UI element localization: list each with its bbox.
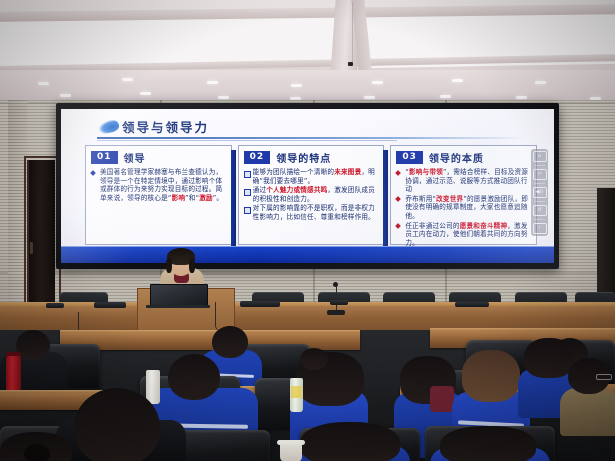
microphone-stand xyxy=(336,286,337,312)
title-divider-secondary xyxy=(97,140,397,141)
slide-footer-bar xyxy=(61,247,554,263)
slide-title: 领导与领导力 xyxy=(122,117,209,136)
hair-bow xyxy=(300,348,328,370)
bullet-item: “影响与带领”，需结合榜样、目标及资源协调，通过示范、说服等方式推动团队行动 xyxy=(396,168,532,194)
osd-separator xyxy=(534,219,545,220)
expand-icon[interactable]: › xyxy=(533,223,547,234)
bullet-item: 通过个人魅力或情感共鸣，激发团队成员的积极性和创造力。 xyxy=(244,186,380,203)
downlight xyxy=(535,81,546,84)
audience-area: NNA xyxy=(0,330,615,461)
person-head xyxy=(74,388,160,461)
slide-title-group: 领导与领导力 xyxy=(97,116,209,136)
column-bullets-03: “影响与带领”，需结合榜样、目标及资源协调，通过示范、说服等方式推动团队行动 乔… xyxy=(396,168,532,247)
person-head xyxy=(168,354,220,400)
refresh-icon[interactable]: ↺ xyxy=(533,205,547,216)
column-header-01: 01 领导 xyxy=(91,150,227,165)
paper-cup xyxy=(280,444,302,461)
ceiling-panel-left xyxy=(0,14,340,67)
column-header-03: 03 领导的本质 xyxy=(396,150,532,165)
slide-column-01: 01 领导 美国著名管理学家赫塞与布兰查德认为，领导是一个在特定情境中，通过影响… xyxy=(85,145,232,245)
presenter-hair-side xyxy=(166,258,172,273)
column-heading: 领导的特点 xyxy=(276,150,331,165)
desk-equipment xyxy=(46,303,64,308)
column-heading: 领导 xyxy=(124,150,146,165)
person-torso xyxy=(560,388,615,436)
ceiling xyxy=(0,0,615,104)
bullet-item: 乔布斯用“改变世界”的愿景激励团队，即使没有明确的规章制度，大家也愿意追随他。 xyxy=(396,195,532,221)
wall-display[interactable]: 领导与领导力 01 领导 美国著名管理学家赫塞与布兰查德认为，领导是一个在特定情… xyxy=(56,103,559,269)
home-icon[interactable]: ⌂ xyxy=(533,151,547,162)
bullet-item: 任正非通过公司的愿景和奋斗精神，激发员工内在动力，使他们朝着共同的方向努力。 xyxy=(396,222,532,248)
presenter-hair-side xyxy=(189,258,195,273)
desk-equipment xyxy=(94,302,126,308)
osd-toolbar[interactable]: ⌂ ⇦ ◀)) ↺ › xyxy=(531,149,548,236)
glasses-icon xyxy=(596,374,612,380)
column-shadow xyxy=(231,150,236,248)
downlight xyxy=(140,92,151,95)
osd-separator xyxy=(534,183,545,184)
person-hair xyxy=(462,350,520,402)
column-bullets-01: 美国著名管理学家赫塞与布兰查德认为，领导是一个在特定情境中，通过影响个体或群体的… xyxy=(91,168,227,202)
person-head xyxy=(16,330,50,360)
projector-mount-rod xyxy=(352,2,353,62)
wall-band xyxy=(0,272,615,274)
swoosh-decoration-icon xyxy=(96,117,120,134)
downlight xyxy=(218,96,229,99)
volume-icon[interactable]: ◀)) xyxy=(533,187,547,198)
downlight xyxy=(291,84,302,87)
slide-columns: 01 领导 美国著名管理学家赫塞与布兰查德认为，领导是一个在特定情境中，通过影响… xyxy=(85,145,537,245)
downlight xyxy=(516,96,527,99)
person-scarf xyxy=(430,386,454,412)
person-hair xyxy=(300,422,400,461)
red-thermos xyxy=(6,356,21,394)
downlight xyxy=(372,81,383,84)
desk-equipment xyxy=(455,302,489,307)
bullet-item: 对下属的影响靠的不是职权，而是非权力性影响力，比如信任、尊重和榜样作用。 xyxy=(244,204,380,221)
downlight xyxy=(207,81,218,84)
downlight xyxy=(440,95,451,98)
downlight xyxy=(452,79,463,82)
column-number-badge: 02 xyxy=(244,151,271,164)
column-shadow xyxy=(383,150,388,248)
column-header-02: 02 领导的特点 xyxy=(244,150,380,165)
back-icon[interactable]: ⇦ xyxy=(533,169,547,180)
osd-separator xyxy=(534,165,545,166)
slide-column-03: 03 领导的本质 “影响与带领”，需结合榜样、目标及资源协调，通过示范、说服等方… xyxy=(390,145,537,245)
desk-equipment xyxy=(240,301,280,307)
microphone-base xyxy=(327,310,345,315)
bottle-label xyxy=(291,386,302,398)
microphone-icon xyxy=(333,282,338,287)
downlight xyxy=(38,82,49,85)
slide-column-02: 02 领导的特点 能够为团队描绘一个清晰的未来图景，明确“我们要去哪里”。 通过… xyxy=(238,145,385,245)
presentation-slide: 领导与领导力 01 领导 美国著名管理学家赫塞与布兰查德认为，领导是一个在特定情… xyxy=(61,109,554,263)
downlight xyxy=(60,94,71,97)
osd-separator xyxy=(534,201,545,202)
downlight xyxy=(364,96,375,99)
screenshot-scene: 领导与领导力 01 领导 美国著名管理学家赫塞与布兰查德认为，领导是一个在特定情… xyxy=(0,0,615,461)
door-handle[interactable] xyxy=(30,242,33,254)
projector-mount xyxy=(348,62,353,66)
downlight xyxy=(122,78,133,81)
person-head xyxy=(212,326,248,358)
desk-edge xyxy=(60,330,360,333)
person-hair xyxy=(440,426,536,461)
water-bottle xyxy=(146,370,160,404)
column-bullets-02: 能够为团队描绘一个清晰的未来图景，明确“我们要去哪里”。 通过个人魅力或情感共鸣… xyxy=(244,168,380,222)
column-heading: 领导的本质 xyxy=(429,150,484,165)
column-number-badge: 03 xyxy=(396,151,423,164)
column-number-badge: 01 xyxy=(91,151,118,164)
person-hair xyxy=(524,338,574,378)
desk-edge xyxy=(430,328,615,331)
bullet-item: 美国著名管理学家赫塞与布兰查德认为，领导是一个在特定情境中，通过影响个体或群体的… xyxy=(91,168,227,202)
laptop-base[interactable] xyxy=(146,305,210,308)
hair-clip xyxy=(24,444,50,461)
title-divider xyxy=(97,137,527,139)
desk-equipment xyxy=(330,300,348,305)
bullet-item: 能够为团队描绘一个清晰的未来图景，明确“我们要去哪里”。 xyxy=(244,168,380,185)
display-screen[interactable]: 领导与领导力 01 领导 美国著名管理学家赫塞与布兰查德认为，领导是一个在特定情… xyxy=(61,109,554,263)
